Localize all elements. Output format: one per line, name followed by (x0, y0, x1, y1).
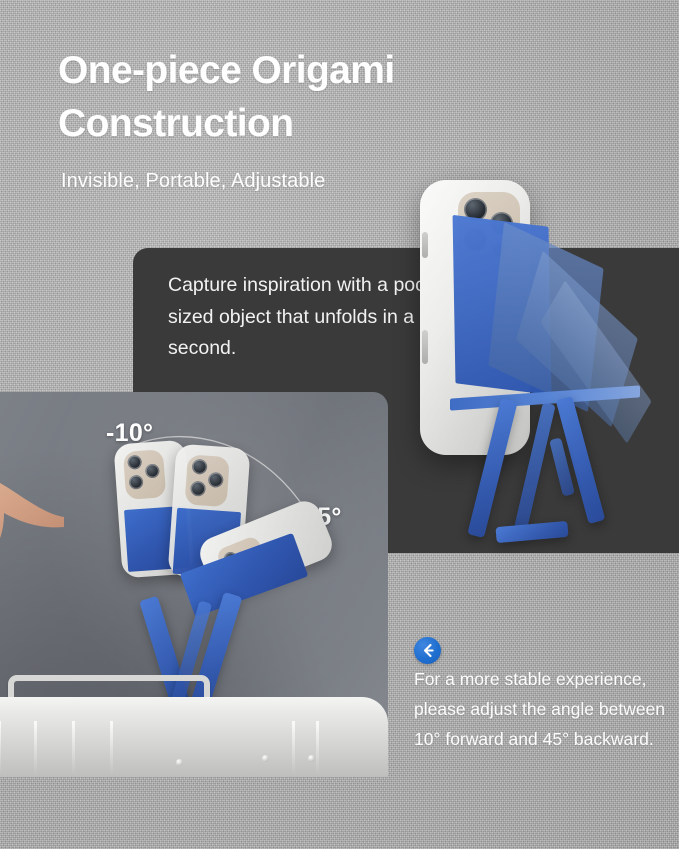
side-button (422, 232, 428, 258)
arrow-left-glyph (414, 637, 441, 664)
camera-lens (192, 459, 208, 475)
marketing-image: One-piece Origami Construction Invisible… (0, 0, 679, 849)
camera-lens (129, 475, 144, 490)
camera-lens (127, 455, 142, 470)
suitcase-body (0, 697, 388, 777)
stand-foot (495, 521, 568, 543)
suitcase-illustration (0, 675, 388, 777)
callout-text: For a more stable experience, please adj… (414, 664, 669, 754)
camera-lens (208, 472, 224, 488)
page-title: One-piece Origami Construction (58, 45, 528, 150)
product-hero-illustration (410, 180, 650, 600)
volume-button (422, 330, 428, 364)
page-subtitle: Invisible, Portable, Adjustable (61, 170, 325, 193)
pointing-hand-icon (0, 455, 120, 605)
camera-lens (190, 481, 206, 497)
camera-module (184, 454, 229, 507)
camera-lens (145, 464, 160, 479)
arrow-left-circle-icon (414, 637, 441, 664)
camera-module (123, 449, 166, 500)
